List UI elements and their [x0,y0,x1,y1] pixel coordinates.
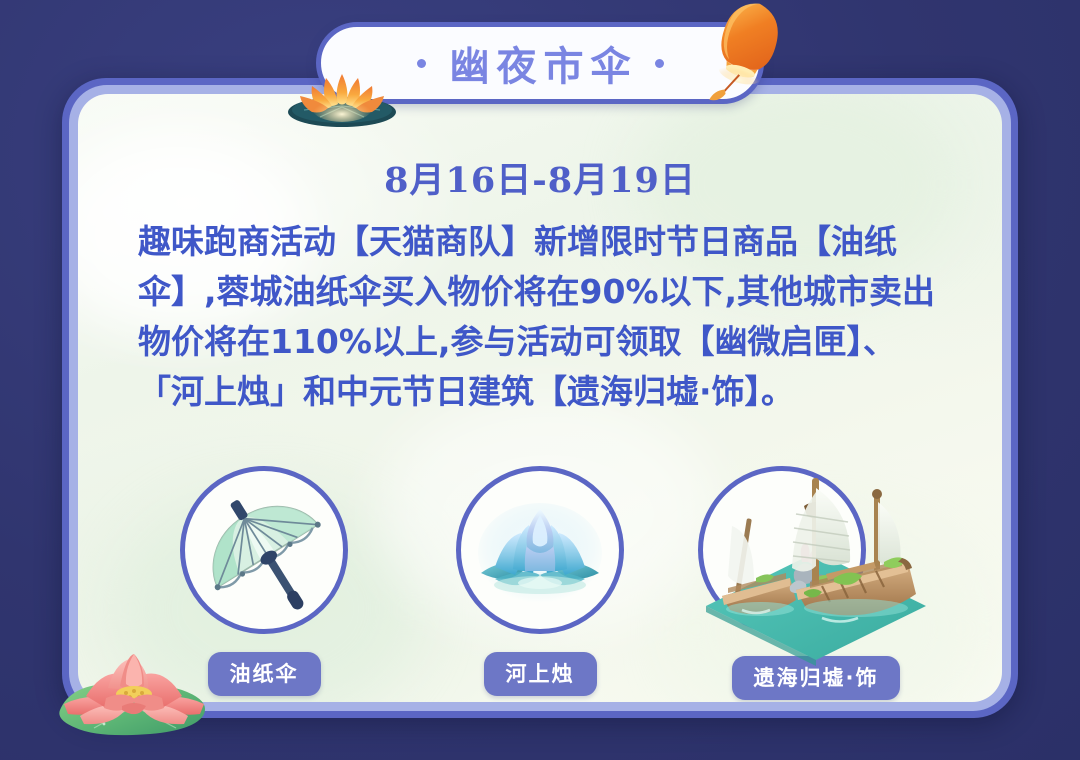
reward-list: 油纸伞 [78,466,1002,700]
reward-item[interactable]: 河上烛 [424,466,656,696]
banner-dot-left-icon [417,59,426,68]
blue-lotus-candle-icon [456,466,624,634]
card-body: 8月16日-8月19日 趣味跑商活动【天猫商队】新增限时节日商品【油纸伞】,蓉城… [78,94,1002,702]
reward-label: 油纸伞 [208,652,321,696]
title-banner-pill: 幽夜市伞 [316,22,764,104]
oil-paper-umbrella-icon [180,466,348,634]
reward-item[interactable]: 油纸伞 [148,466,380,696]
event-content: 8月16日-8月19日 趣味跑商活动【天猫商队】新增限时节日商品【油纸伞】,蓉城… [78,152,1002,418]
title-banner: 幽夜市伞 [316,22,764,104]
reward-art [456,466,624,634]
banner-dot-right-icon [655,59,664,68]
reward-item[interactable]: 遗海归墟·饰 [700,466,932,700]
banner-title-text: 幽夜市伞 [443,34,638,92]
event-date-range: 8月16日-8月19日 [126,152,954,203]
reward-art [698,466,934,666]
card-inner-border: 8月16日-8月19日 趣味跑商活动【天猫商队】新增限时节日商品【油纸伞】,蓉城… [69,85,1011,711]
shipwreck-building-icon [698,466,934,666]
reward-label: 河上烛 [484,652,597,696]
promo-banner-stage: 8月16日-8月19日 趣味跑商活动【天猫商队】新增限时节日商品【油纸伞】,蓉城… [0,0,1080,760]
reward-art [180,466,348,634]
event-card: 8月16日-8月19日 趣味跑商活动【天猫商队】新增限时节日商品【油纸伞】,蓉城… [62,78,1018,718]
event-description: 趣味跑商活动【天猫商队】新增限时节日商品【油纸伞】,蓉城油纸伞买入物价将在90%… [126,217,954,418]
